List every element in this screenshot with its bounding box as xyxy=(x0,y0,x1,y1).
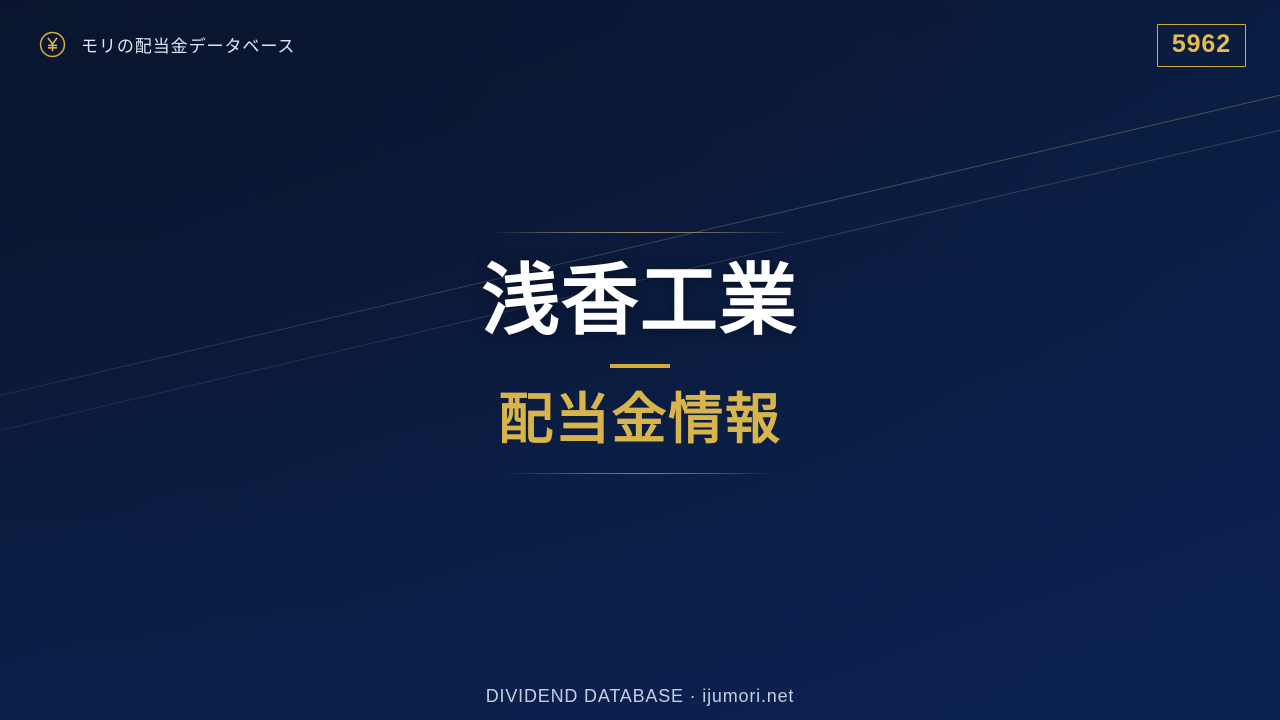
slide-canvas: モリの配当金データベース 5962 浅香工業 配当金情報 DIVIDEND DA… xyxy=(0,0,1280,720)
company-name: 浅香工業 xyxy=(482,261,799,339)
title-rule-bottom xyxy=(504,473,776,474)
brand-name: モリの配当金データベース xyxy=(81,32,295,57)
page-subtitle: 配当金情報 xyxy=(498,392,781,447)
title-rule-top xyxy=(490,232,790,233)
brand[interactable]: モリの配当金データベース xyxy=(38,30,295,59)
page-footer: DIVIDEND DATABASE · ijumori.net xyxy=(0,686,1280,707)
yen-circle-icon xyxy=(38,30,67,59)
page-header: モリの配当金データベース 5962 xyxy=(0,0,1280,90)
title-block: 浅香工業 配当金情報 xyxy=(0,232,1280,474)
stock-code-badge: 5962 xyxy=(1157,24,1246,67)
gold-divider xyxy=(610,364,670,368)
footer-text: DIVIDEND DATABASE · ijumori.net xyxy=(486,686,795,706)
